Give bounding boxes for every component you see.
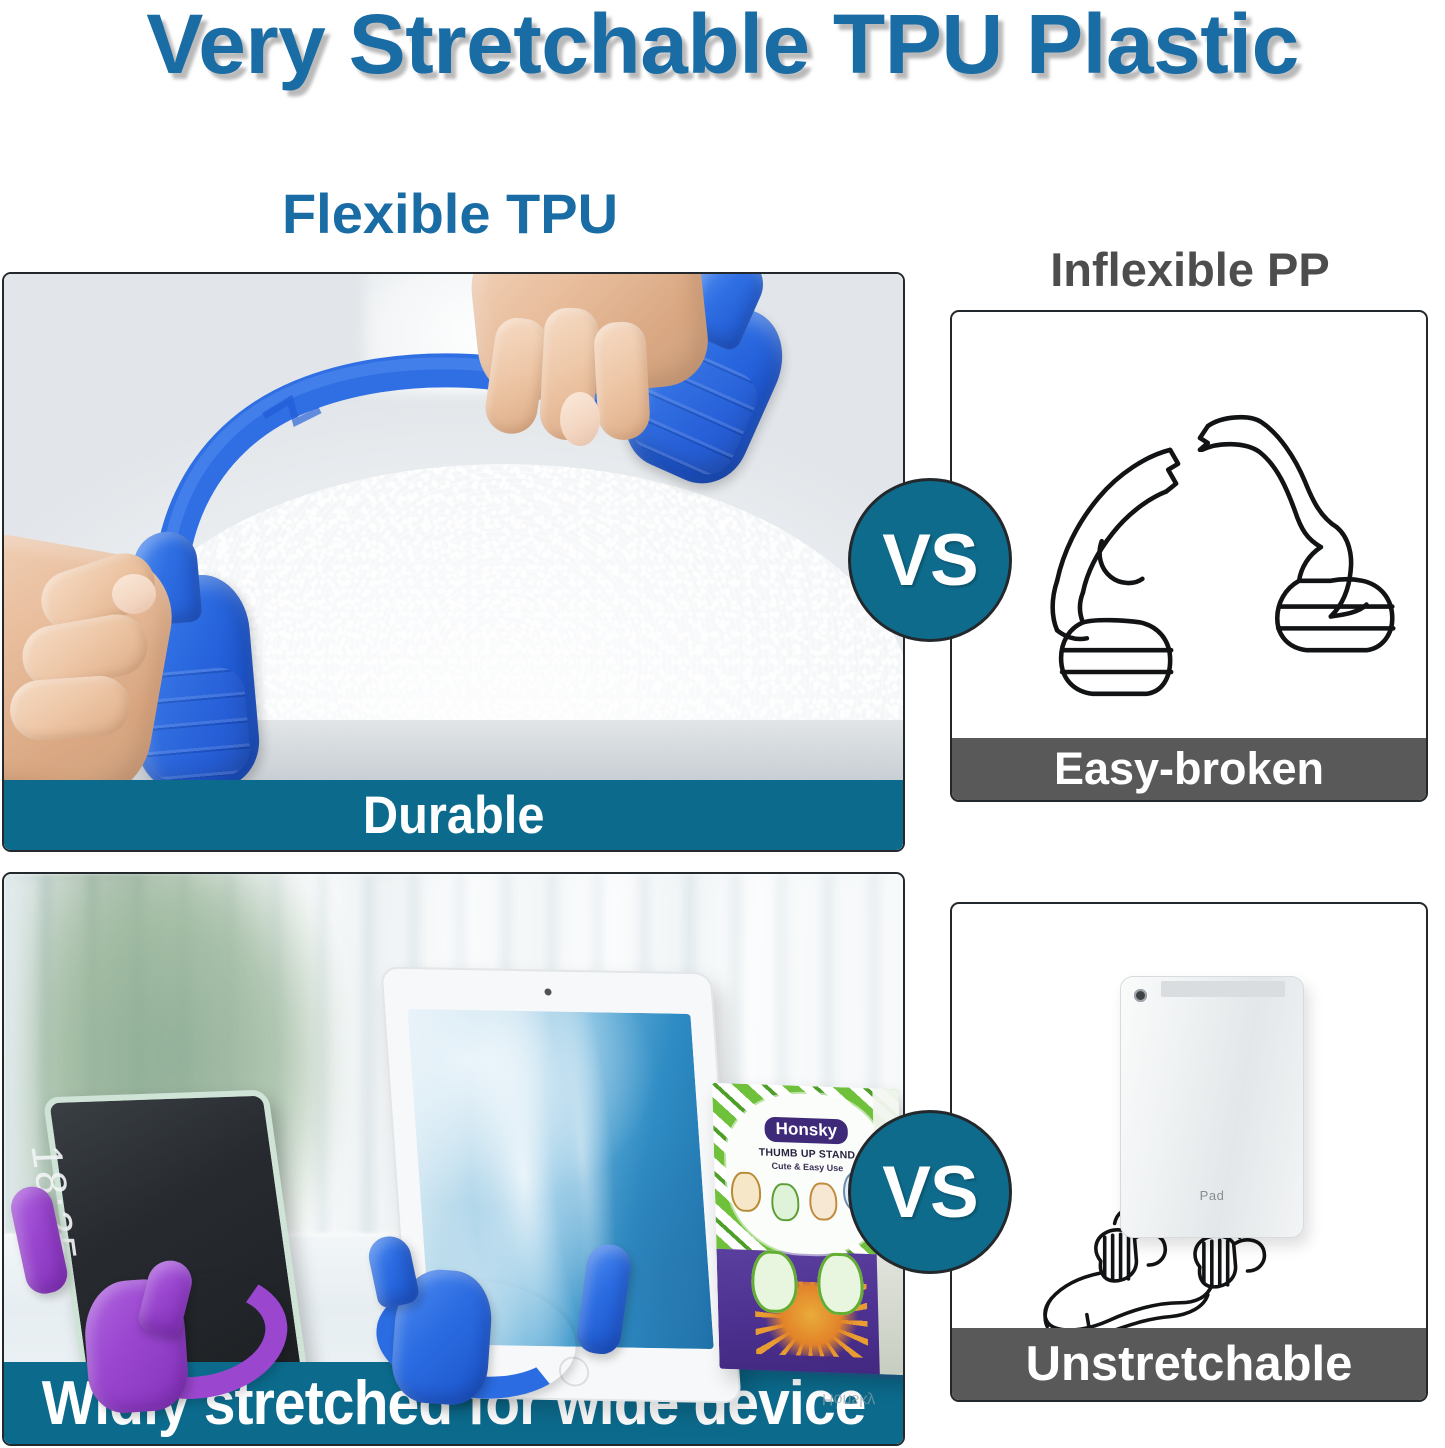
- infographic-canvas: Very Stretchable TPU Plastic Flexible TP…: [0, 0, 1445, 1448]
- panel-durable-photo: Durable: [2, 272, 905, 852]
- panel-wide-stretch-photo: 18:25: [2, 872, 905, 1446]
- vs-badge-label: VS: [882, 519, 977, 602]
- box-brand-badge: Honsky: [764, 1117, 848, 1145]
- tablet-camera: [544, 988, 552, 995]
- box-thumb: [730, 1171, 761, 1212]
- box-reflection-text: Honsky: [822, 1389, 876, 1409]
- fingernail: [560, 392, 600, 446]
- tablet-photo-back: Pad: [1120, 976, 1304, 1238]
- box-thumb: [771, 1183, 800, 1222]
- caption-easy-broken: Easy-broken: [952, 738, 1426, 800]
- caption-unstretchable: Unstretchable: [952, 1328, 1426, 1400]
- vs-badge-bottom: VS: [848, 1110, 1012, 1274]
- vs-badge-top: VS: [848, 478, 1012, 642]
- tablet-model-label: Pad: [1121, 1188, 1303, 1203]
- antenna-strip: [1161, 981, 1285, 997]
- box-thumb: [809, 1182, 838, 1221]
- panel-unstretchable-drawing: Pad: [950, 902, 1428, 1402]
- stretch-test-photo: [4, 274, 903, 850]
- page-title: Very Stretchable TPU Plastic: [0, 0, 1445, 92]
- box-thumb: [751, 1250, 799, 1314]
- apple-logo-icon: [1195, 1094, 1229, 1132]
- fingernail: [112, 574, 156, 614]
- purple-thumb-stand: [34, 1264, 304, 1419]
- caption-durable: Durable: [4, 780, 903, 850]
- panel-easy-broken-drawing: Easy-broken: [950, 310, 1428, 802]
- rear-camera: [1134, 989, 1147, 1002]
- vs-badge-label: VS: [882, 1151, 977, 1234]
- wide-device-photo: 18:25: [4, 874, 903, 1444]
- finger: [593, 321, 651, 442]
- blue-thumb-stand: [364, 1266, 664, 1426]
- label-inflexible-pp: Inflexible PP: [950, 243, 1430, 297]
- broken-stand-line-drawing: [952, 312, 1426, 800]
- finger: [8, 674, 132, 742]
- label-flexible-tpu: Flexible TPU: [150, 183, 750, 245]
- box-thumb: [817, 1252, 865, 1316]
